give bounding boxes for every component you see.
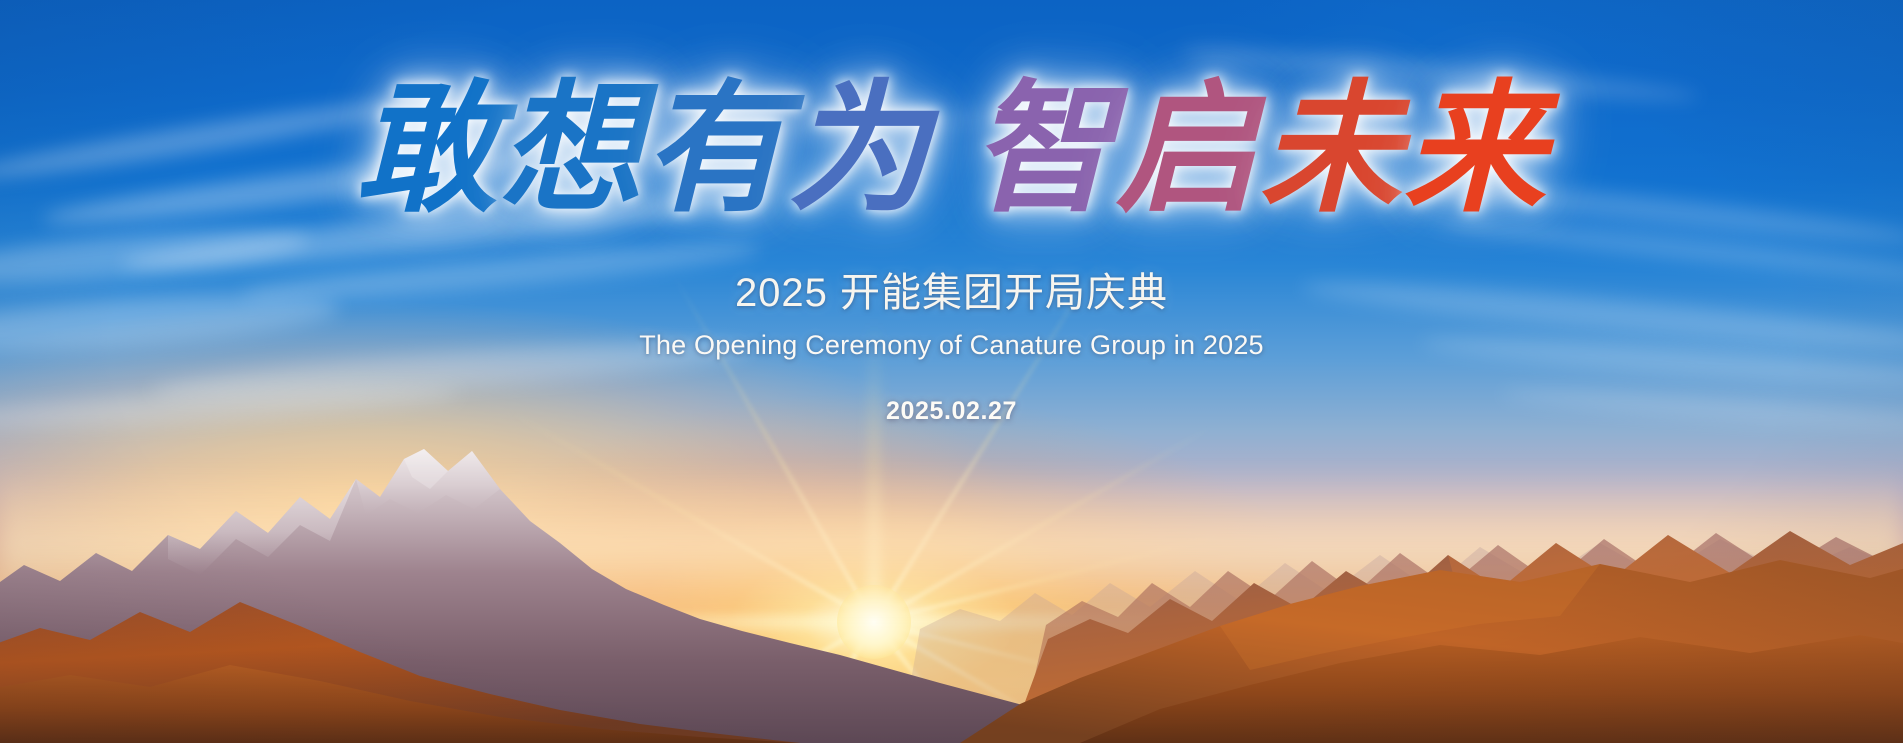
sky-gradient <box>0 0 1903 743</box>
event-banner: 敢想有为智启未来 2025 开能集团开局庆典 The Opening Cerem… <box>0 0 1903 743</box>
